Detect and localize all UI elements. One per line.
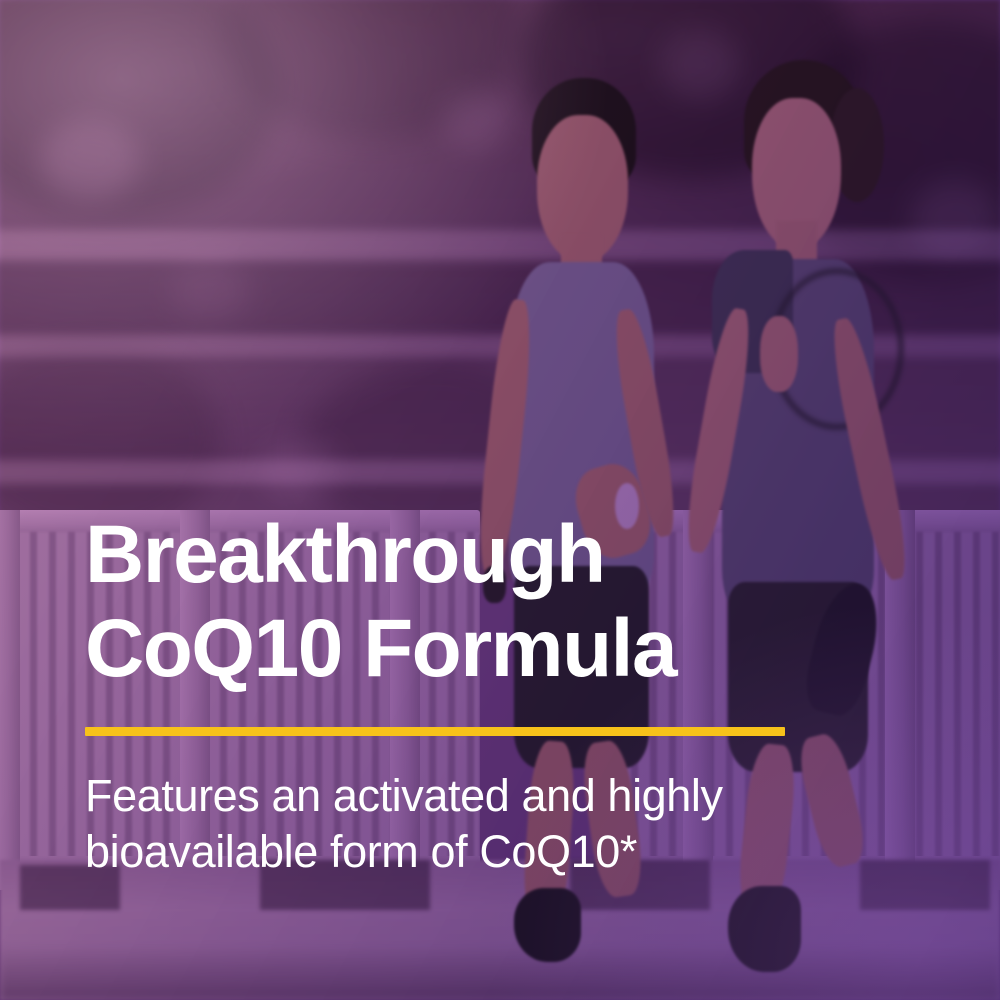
- yellow-accent-divider: [85, 727, 785, 736]
- banner-subtitle: Features an activated and highly bioavai…: [85, 768, 915, 881]
- page-title: Breakthrough CoQ10 Formula: [85, 508, 915, 697]
- banner-text-block: Breakthrough CoQ10 Formula Features an a…: [85, 508, 915, 880]
- coq10-hero-banner: Breakthrough CoQ10 Formula Features an a…: [0, 0, 1000, 1000]
